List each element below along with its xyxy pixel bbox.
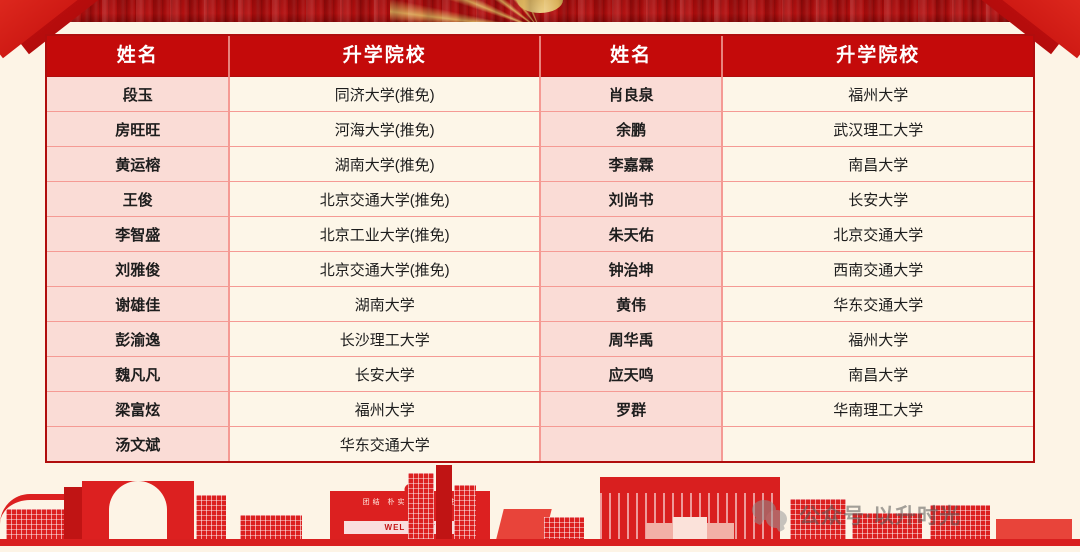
roster-table-container: 姓名 升学院校 姓名 升学院校 段玉同济大学(推免)肖良泉福州大学房旺旺河海大学… [45, 34, 1035, 463]
table-row: 梁富炫福州大学罗群华南理工大学 [47, 392, 1033, 427]
tower-block-3 [454, 485, 476, 539]
building-block-4 [240, 515, 302, 539]
cell-school-left: 华东交通大学 [229, 427, 540, 462]
table-row: 谢雄佳湖南大学黄伟华东交通大学 [47, 287, 1033, 322]
footer-baseline [0, 546, 1080, 552]
cell-name-left: 李智盛 [47, 217, 229, 252]
tower-block-2 [436, 465, 452, 539]
cell-school-left: 福州大学 [229, 392, 540, 427]
cell-name-right [540, 427, 722, 462]
building-block-2 [64, 487, 82, 539]
cell-school-right: 华东交通大学 [722, 287, 1033, 322]
cell-name-right: 肖良泉 [540, 77, 722, 112]
cell-name-left: 谢雄佳 [47, 287, 229, 322]
cell-name-left: 段玉 [47, 77, 229, 112]
cell-name-left: 彭渝逸 [47, 322, 229, 357]
cell-name-right: 刘尚书 [540, 182, 722, 217]
cell-school-right [722, 427, 1033, 462]
table-row: 房旺旺河海大学(推免)余鹏武汉理工大学 [47, 112, 1033, 147]
curtain-fold-texture [0, 0, 1080, 22]
top-curtain-banner [0, 0, 1080, 22]
cell-school-left: 湖南大学 [229, 287, 540, 322]
cell-name-left: 汤文斌 [47, 427, 229, 462]
cell-school-left: 北京工业大学(推免) [229, 217, 540, 252]
cell-name-right: 罗群 [540, 392, 722, 427]
table-row: 刘雅俊北京交通大学(推免)钟治坤西南交通大学 [47, 252, 1033, 287]
cell-name-right: 应天鸣 [540, 357, 722, 392]
cell-name-right: 李嘉霖 [540, 147, 722, 182]
poster-canvas: 姓名 升学院校 姓名 升学院校 段玉同济大学(推免)肖良泉福州大学房旺旺河海大学… [0, 0, 1080, 552]
cell-school-right: 西南交通大学 [722, 252, 1033, 287]
cell-name-right: 周华禹 [540, 322, 722, 357]
cell-school-right: 福州大学 [722, 322, 1033, 357]
wechat-watermark: 公众号·以升时光 [752, 500, 961, 530]
table-row: 黄运榕湖南大学(推免)李嘉霖南昌大学 [47, 147, 1033, 182]
cell-name-left: 魏凡凡 [47, 357, 229, 392]
table-row: 魏凡凡长安大学应天鸣南昌大学 [47, 357, 1033, 392]
cell-name-right: 余鹏 [540, 112, 722, 147]
building-block-10 [996, 519, 1072, 539]
table-row: 王俊北京交通大学(推免)刘尚书长安大学 [47, 182, 1033, 217]
cell-name-left: 梁富炫 [47, 392, 229, 427]
tower-block-1 [408, 473, 434, 539]
hall-entrance [673, 517, 707, 539]
building-block-3 [196, 495, 226, 539]
table-row: 彭渝逸长沙理工大学周华禹福州大学 [47, 322, 1033, 357]
cell-name-left: 王俊 [47, 182, 229, 217]
cell-school-right: 南昌大学 [722, 147, 1033, 182]
cell-school-right: 南昌大学 [722, 357, 1033, 392]
ground-strip [0, 539, 1080, 546]
building-block-6 [544, 517, 584, 539]
column-header-name-right: 姓名 [540, 36, 722, 77]
wechat-icon [752, 500, 790, 530]
cell-name-left: 黄运榕 [47, 147, 229, 182]
table-row: 段玉同济大学(推免)肖良泉福州大学 [47, 77, 1033, 112]
table-row: 李智盛北京工业大学(推免)朱天佑北京交通大学 [47, 217, 1033, 252]
cell-school-right: 华南理工大学 [722, 392, 1033, 427]
cell-name-left: 刘雅俊 [47, 252, 229, 287]
cell-school-left: 长安大学 [229, 357, 540, 392]
column-header-name-left: 姓名 [47, 36, 229, 77]
cell-school-left: 湖南大学(推免) [229, 147, 540, 182]
table-header-row: 姓名 升学院校 姓名 升学院校 [47, 36, 1033, 77]
cell-school-left: 长沙理工大学 [229, 322, 540, 357]
watermark-label: 公众号·以升时光 [799, 500, 961, 530]
cell-school-right: 福州大学 [722, 77, 1033, 112]
cell-school-right: 北京交通大学 [722, 217, 1033, 252]
column-header-school-left: 升学院校 [229, 36, 540, 77]
cell-school-left: 北京交通大学(推免) [229, 252, 540, 287]
cell-name-right: 黄伟 [540, 287, 722, 322]
cell-name-right: 朱天佑 [540, 217, 722, 252]
column-header-school-right: 升学院校 [722, 36, 1033, 77]
cell-name-left: 房旺旺 [47, 112, 229, 147]
arch-building [82, 481, 194, 539]
cell-school-left: 河海大学(推免) [229, 112, 540, 147]
table-row: 汤文斌华东交通大学 [47, 427, 1033, 462]
cell-school-left: 北京交通大学(推免) [229, 182, 540, 217]
roster-table: 姓名 升学院校 姓名 升学院校 段玉同济大学(推免)肖良泉福州大学房旺旺河海大学… [47, 36, 1033, 461]
cell-school-right: 长安大学 [722, 182, 1033, 217]
cell-school-right: 武汉理工大学 [722, 112, 1033, 147]
cell-name-right: 钟治坤 [540, 252, 722, 287]
cell-school-left: 同济大学(推免) [229, 77, 540, 112]
